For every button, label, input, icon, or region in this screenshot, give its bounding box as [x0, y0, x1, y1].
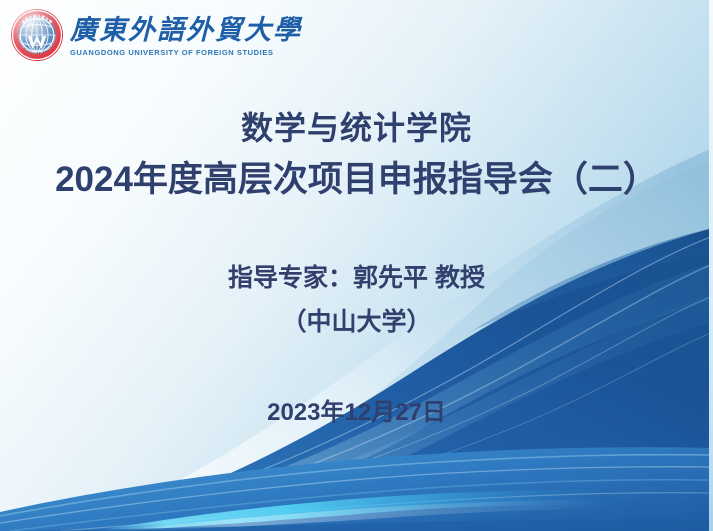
page-title-line-1: 数学与统计学院: [0, 107, 713, 149]
logo-wordmark-chinese: 廣東外語外貿大學: [70, 14, 302, 47]
university-logo: 廣東外語外貿大學 GUANGDONG UNIVERSITY OF FOREIGN…: [8, 6, 302, 64]
guangdong-university-globe-emblem: 廣東外語外貿大學 GUANGDONG UNIVERSITY OF FOREIGN…: [8, 6, 66, 64]
logo-wordmark: 廣東外語外貿大學 GUANGDONG UNIVERSITY OF FOREIGN…: [70, 12, 302, 58]
title-slide: 廣東外語外貿大學 GUANGDONG UNIVERSITY OF FOREIGN…: [0, 0, 713, 531]
page-title-line-2: 2024年度高层次项目申报指导会（二）: [0, 157, 713, 203]
logo-wordmark-english: GUANGDONG UNIVERSITY OF FOREIGN STUDIES: [70, 47, 307, 58]
presenter-affiliation: （中山大学）: [0, 304, 713, 340]
slide-date: 2023年12月27日: [0, 396, 713, 430]
presenter-expert-line: 指导专家：郭先平 教授: [0, 260, 713, 296]
